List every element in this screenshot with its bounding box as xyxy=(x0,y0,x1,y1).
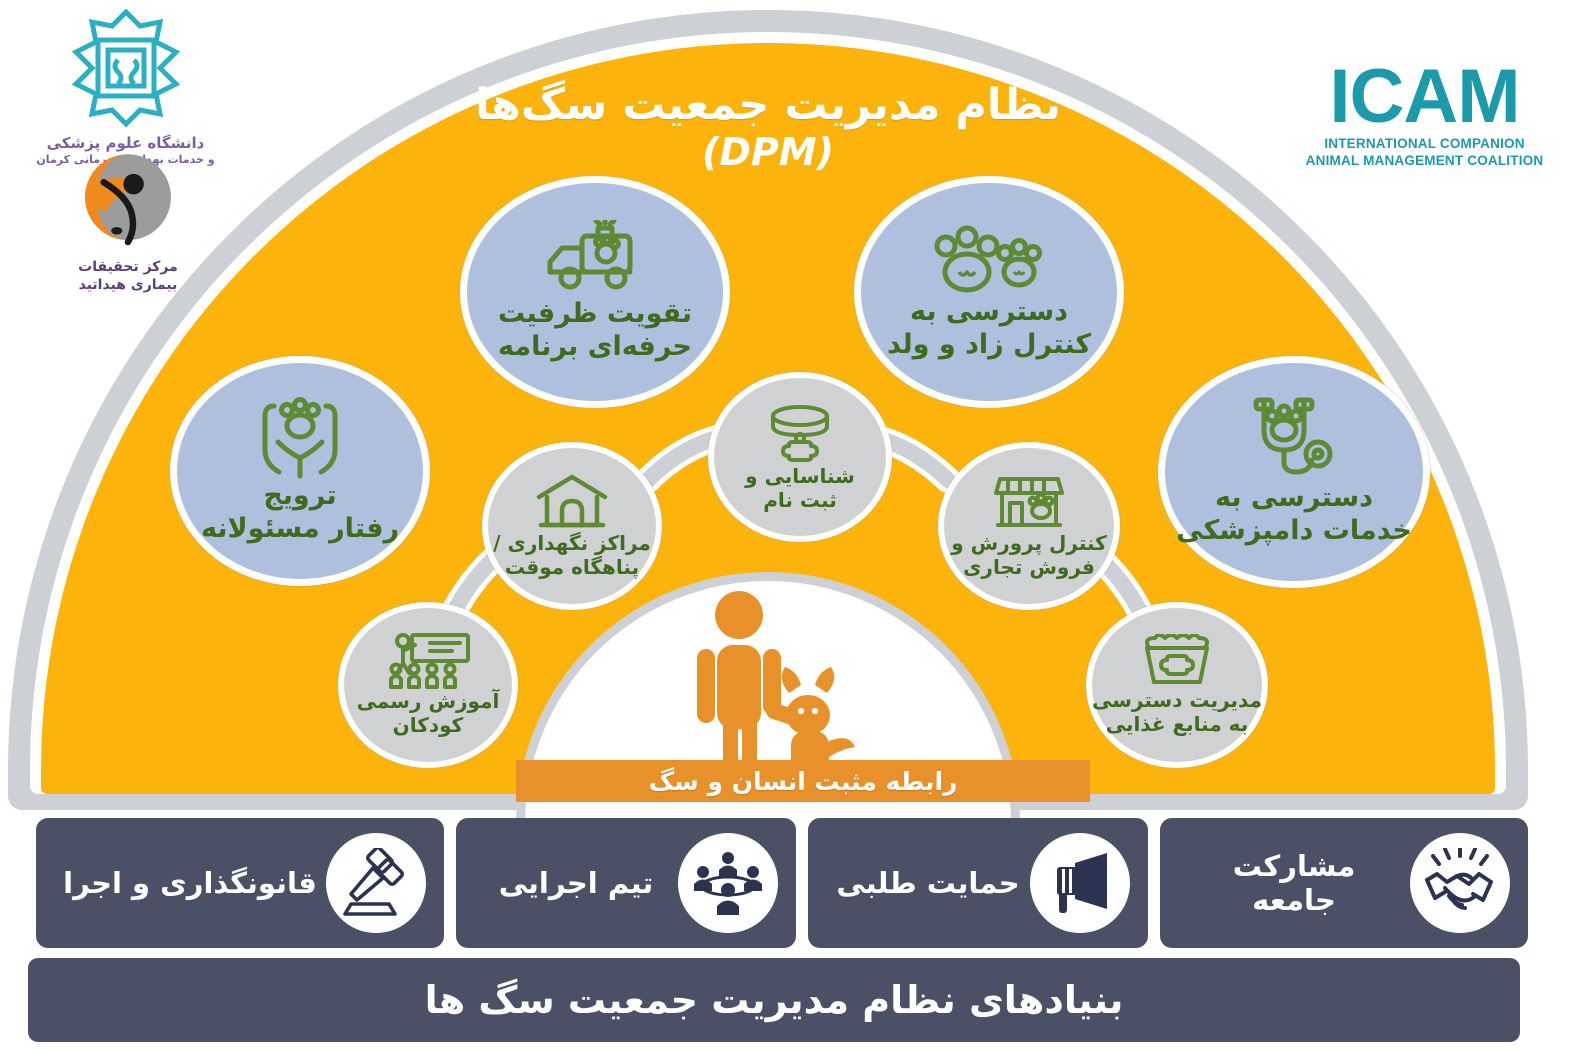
bubble-label-line1: دسترسی به xyxy=(1215,482,1373,513)
hydatid-caption-line1: مرکز تحقیقات xyxy=(78,259,178,275)
stethoscope-paw-icon xyxy=(1242,396,1346,482)
foundation-label: تیم اجرایی xyxy=(474,866,678,900)
hydatid-research-center-logo: مرکز تحقیقات بیماری هیداتید xyxy=(28,148,228,294)
hydatid-caption: مرکز تحقیقات بیماری هیداتید xyxy=(28,258,228,294)
bubble-label-line2: کنترل زاد و ولد xyxy=(887,329,1091,360)
bubble-birth-control-access[interactable]: دسترسی به کنترل زاد و ولد xyxy=(854,176,1124,408)
bubble-label-line2: کودکان xyxy=(393,713,464,737)
kmu-emblem-icon xyxy=(66,8,186,128)
gavel-icon-badge xyxy=(326,833,426,933)
foundation-label: قانونگذاری و اجرا xyxy=(54,866,326,900)
classroom-teaching-icon xyxy=(386,633,470,689)
collar-bone-tag-icon xyxy=(761,402,839,464)
bubble-commercial-breeding-control[interactable]: کنترل پرورش و فروش تجاری xyxy=(938,442,1120,610)
positive-relationship-band: رابطه مثبت انسان و سگ xyxy=(516,760,1090,802)
bubble-label-line2: به منابع غذایی xyxy=(1106,712,1249,736)
megaphone-icon xyxy=(1045,851,1115,915)
bubble-label: شناسایی و ثبت نام xyxy=(745,464,855,513)
hands-holding-paw-icon xyxy=(248,396,352,480)
handshake-icon-badge xyxy=(1410,833,1510,933)
bubble-formal-child-education[interactable]: آموزش رسمی کودکان xyxy=(338,602,518,768)
bubble-food-resource-access-management[interactable]: مدیریت دسترسی به منابع غذایی xyxy=(1086,602,1268,768)
bubble-label-line2: فروش تجاری xyxy=(963,555,1095,579)
foundation-label: حمایت طلبی xyxy=(826,866,1030,900)
bubble-label-line2: خدمات دامپزشکی xyxy=(1176,515,1412,546)
foundations-footer-label: بنیادهای نظام مدیریت جمعیت سگ ها xyxy=(425,978,1124,1022)
bubble-professional-capacity[interactable]: تقویت ظرفیت حرفه‌ای برنامه xyxy=(460,176,730,408)
bubble-label-line1: مدیریت دسترسی xyxy=(1092,688,1262,712)
bubble-label-line1: ترویج xyxy=(263,480,336,511)
bubble-label-line2: پناهگاه موقت xyxy=(505,555,639,579)
bubble-label-line2: رفتار مسئولانه xyxy=(201,513,399,544)
bubble-label: کنترل پرورش و فروش تجاری xyxy=(951,531,1107,580)
dog-house-icon xyxy=(535,473,609,531)
two-paw-prints-icon xyxy=(929,222,1049,296)
bubble-label-line2: حرفه‌ای برنامه xyxy=(498,331,692,362)
bubble-label: تقویت ظرفیت حرفه‌ای برنامه xyxy=(498,298,692,364)
icam-subtitle-line2: ANIMAL MANAGEMENT COALITION xyxy=(1306,153,1544,168)
bubble-label: مراکز نگهداری / پناهگاه موقت xyxy=(493,531,651,580)
kerman-university-logo: دانشگاه علوم پزشکی و خدمات بهداشتی درمان… xyxy=(18,8,233,167)
bubble-label-line1: آموزش رسمی xyxy=(357,689,500,713)
bubble-veterinary-services-access[interactable]: دسترسی به خدمات دامپزشکی xyxy=(1158,356,1430,588)
bubble-shelter-holding-centers[interactable]: مراکز نگهداری / پناهگاه موقت xyxy=(482,442,662,610)
bubble-label-line1: کنترل پرورش و xyxy=(951,531,1107,555)
gavel-icon xyxy=(339,848,413,918)
foundation-label: مشارکت جامعه xyxy=(1178,849,1410,917)
megaphone-icon-badge xyxy=(1030,833,1130,933)
foundation-advocacy[interactable]: حمایت طلبی xyxy=(808,818,1148,948)
icam-subtitle-line1: INTERNATIONAL COMPANION xyxy=(1324,136,1524,151)
pet-shop-icon xyxy=(994,473,1064,531)
infographic-canvas: نظام مدیریت جمعیت سگ‌ها (DPM) xyxy=(0,0,1575,1050)
animal-ambulance-icon xyxy=(540,220,650,298)
bubble-label-line1: دسترسی به xyxy=(910,296,1068,327)
bubble-responsible-behavior[interactable]: ترویج رفتار مسئولانه xyxy=(170,356,430,586)
hydatid-emblem-icon xyxy=(72,148,184,252)
handshake-icon xyxy=(1421,848,1499,918)
bubble-label: ترویج رفتار مسئولانه xyxy=(201,480,399,546)
foundations-footer-bar: بنیادهای نظام مدیریت جمعیت سگ ها xyxy=(28,958,1520,1042)
bubble-label: مدیریت دسترسی به منابع غذایی xyxy=(1092,688,1262,737)
icam-subtitle: INTERNATIONAL COMPANION ANIMAL MANAGEMEN… xyxy=(1292,135,1557,169)
foundation-legislation-enforcement[interactable]: قانونگذاری و اجرا xyxy=(36,818,444,948)
meeting-team-icon xyxy=(689,850,767,916)
icam-logo: ICAM INTERNATIONAL COMPANION ANIMAL MANA… xyxy=(1292,62,1557,169)
bubble-label-line1: مراکز نگهداری / xyxy=(493,531,651,555)
bubble-identification-registration[interactable]: شناسایی و ثبت نام xyxy=(708,372,892,542)
bubble-label: آموزش رسمی کودکان xyxy=(357,689,500,738)
bubble-label: دسترسی به کنترل زاد و ولد xyxy=(887,296,1091,362)
positive-relationship-label: رابطه مثبت انسان و سگ xyxy=(649,767,958,796)
meeting-team-icon-badge xyxy=(678,833,778,933)
food-bowl-bone-icon xyxy=(1139,634,1215,688)
hydatid-caption-line2: بیماری هیداتید xyxy=(79,277,178,293)
foundation-row: مشارکت جامعه حمایت طلبی xyxy=(8,818,1528,948)
bubble-label-line1: تقویت ظرفیت xyxy=(498,298,692,329)
bubble-label: دسترسی به خدمات دامپزشکی xyxy=(1176,482,1412,548)
icam-wordmark: ICAM xyxy=(1292,62,1557,132)
foundation-executive-team[interactable]: تیم اجرایی xyxy=(456,818,796,948)
bubble-label-line2: ثبت نام xyxy=(763,488,837,512)
bubble-label-line1: شناسایی و xyxy=(745,464,855,488)
foundation-community-engagement[interactable]: مشارکت جامعه xyxy=(1160,818,1528,948)
